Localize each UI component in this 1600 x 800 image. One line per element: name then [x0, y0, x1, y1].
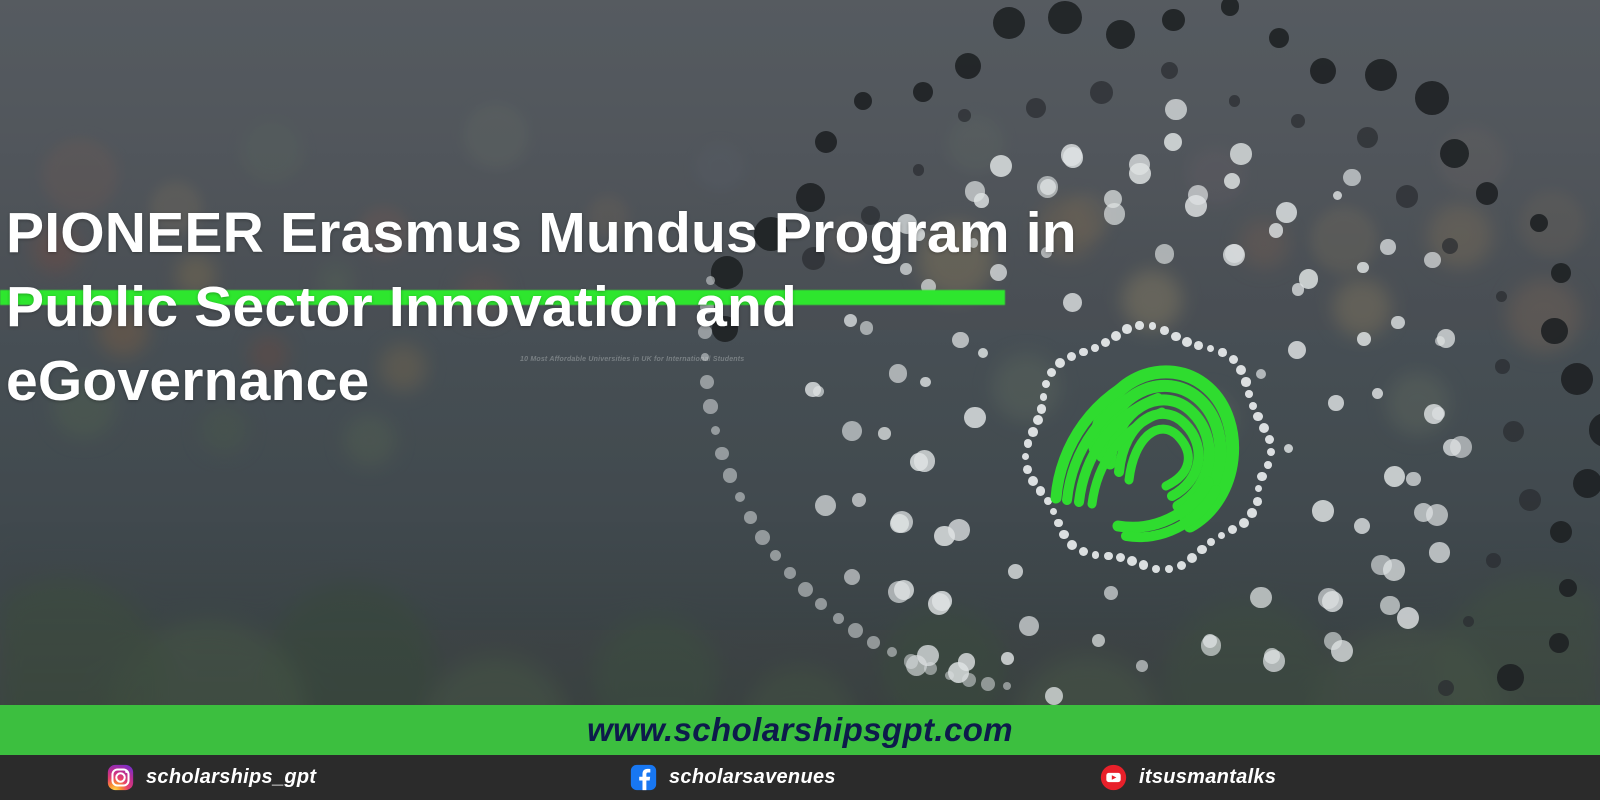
- social-link-instagram[interactable]: scholarships_gpt: [107, 764, 316, 791]
- instagram-icon: [107, 764, 134, 791]
- website-url[interactable]: www.scholarshipsgpt.com: [0, 705, 1600, 755]
- facebook-icon: [630, 764, 657, 791]
- headline-line-1: PIONEER Erasmus Mundus Program in: [6, 196, 1186, 270]
- youtube-handle: itsusmantalks: [1139, 766, 1276, 789]
- social-link-facebook[interactable]: scholarsavenues: [630, 764, 836, 791]
- social-link-youtube[interactable]: itsusmantalks: [1100, 764, 1276, 791]
- headline-line-3: eGovernance: [6, 344, 1186, 418]
- footer-social-bar: scholarships_gpt scholarsavenues itsusma…: [0, 755, 1600, 800]
- youtube-icon: [1100, 764, 1127, 791]
- instagram-handle: scholarships_gpt: [146, 766, 316, 789]
- headline-line-2: Public Sector Innovation and: [6, 270, 1186, 344]
- page-title: PIONEER Erasmus Mundus Program in Public…: [6, 196, 1186, 418]
- facebook-handle: scholarsavenues: [669, 766, 836, 789]
- promotional-banner: 10 Most Affordable Universities in UK fo…: [0, 0, 1600, 800]
